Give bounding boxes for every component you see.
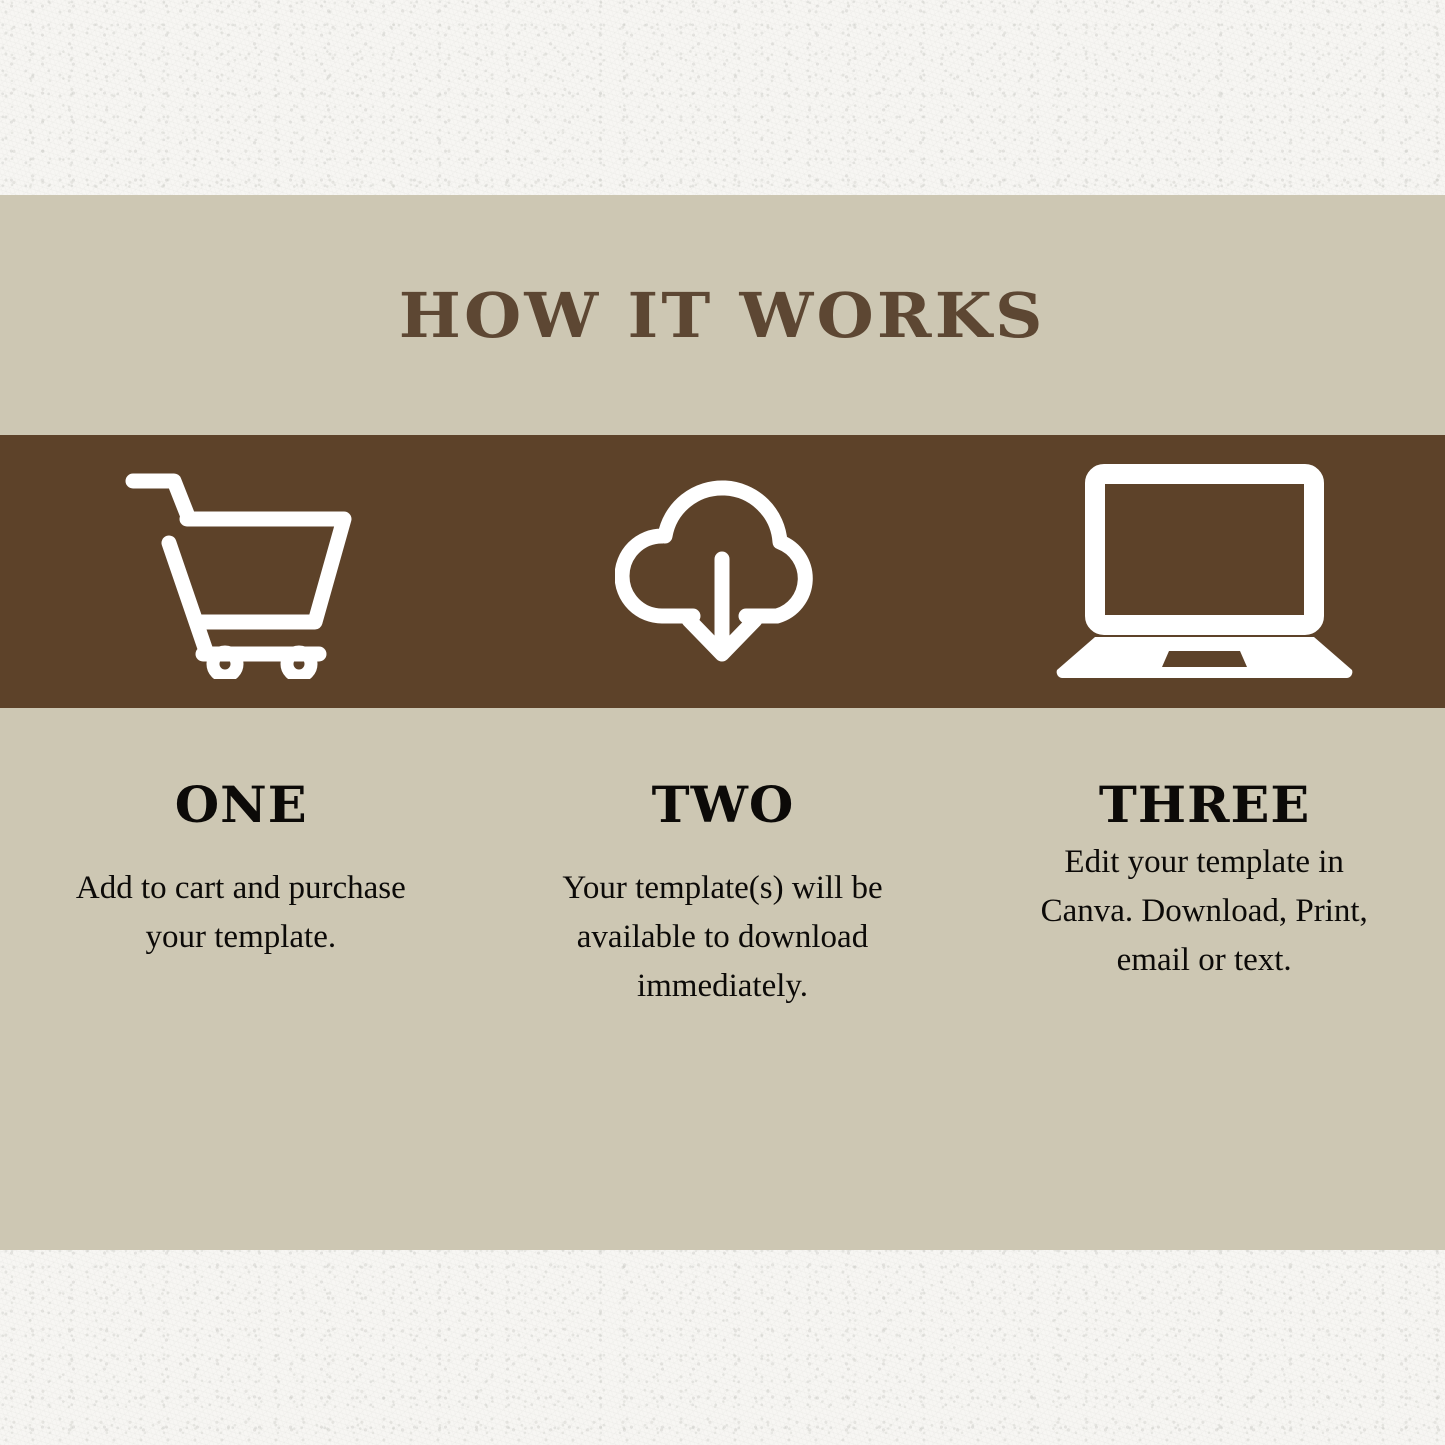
step-one: ONE Add to cart and purchase your templa… [0, 708, 482, 962]
page-title: HOW IT WORKS [399, 279, 1046, 352]
step-one-description: Add to cart and purchase your template. [71, 864, 411, 962]
steps-row: ONE Add to cart and purchase your templa… [0, 708, 1445, 1250]
how-it-works-card: HOW IT WORKS [0, 195, 1445, 1250]
step-three-number: THREE [1098, 780, 1309, 830]
icon-band [0, 435, 1445, 708]
step-three: THREE Edit your template in Canva. Downl… [963, 708, 1445, 984]
step-three-description: Edit your template in Canva. Download, P… [1029, 838, 1379, 984]
laptop-icon [1047, 464, 1362, 679]
title-band: HOW IT WORKS [0, 195, 1445, 435]
step-one-number: ONE [174, 780, 307, 830]
icon-cell-three [963, 435, 1445, 708]
step-two-description: Your template(s) will be available to do… [550, 864, 895, 1010]
cloud-download-icon [615, 464, 830, 679]
step-two: TWO Your template(s) will be available t… [482, 708, 964, 1010]
icon-cell-two [482, 435, 964, 708]
icon-cell-one [0, 435, 482, 708]
shopping-cart-icon [121, 464, 361, 679]
step-two-number: TWO [651, 780, 794, 830]
